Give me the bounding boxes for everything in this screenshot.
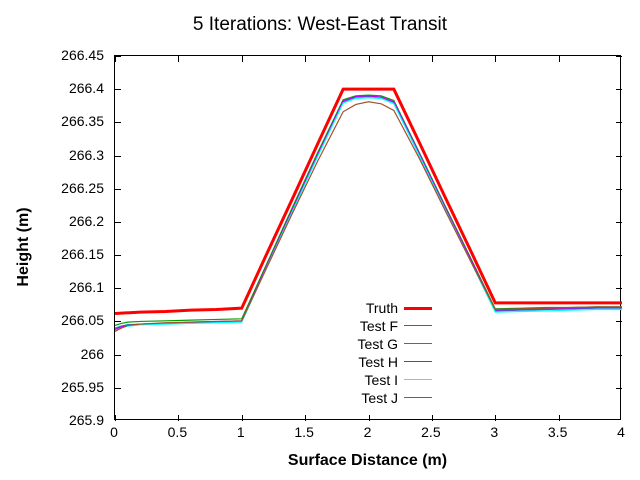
y-tick-label: 266.4	[8, 80, 104, 96]
legend-label: Test F	[306, 317, 398, 335]
legend-item: Test G	[306, 335, 398, 353]
y-tick-label: 266.35	[8, 113, 104, 129]
legend-label: Test H	[306, 353, 398, 371]
x-tick-label: 2.5	[401, 424, 461, 440]
x-tick-label: 3.5	[528, 424, 588, 440]
series-line-test-f	[115, 95, 622, 325]
legend-label: Truth	[306, 299, 398, 317]
x-tick-label: 2	[338, 424, 398, 440]
x-tick-label: 0.5	[147, 424, 207, 440]
y-tick-label: 266.45	[8, 47, 104, 63]
x-axis-label: Surface Distance (m)	[114, 452, 621, 470]
series-line-test-i	[115, 98, 622, 331]
x-tick-label: 1	[211, 424, 271, 440]
chart-legend: TruthTest FTest GTest HTest ITest J	[306, 299, 398, 407]
legend-label: Test J	[306, 389, 398, 407]
y-axis-label: Height (m)	[15, 187, 33, 307]
series-line-truth	[115, 89, 622, 313]
series-line-test-j	[115, 102, 622, 332]
y-tick-label: 266	[8, 346, 104, 362]
y-tick-label: 266.05	[8, 312, 104, 328]
x-tick-label: 4	[591, 424, 640, 440]
legend-color-swatch	[404, 307, 432, 310]
x-tick-label: 0	[84, 424, 144, 440]
legend-item: Test J	[306, 389, 398, 407]
legend-item: Test H	[306, 353, 398, 371]
legend-item: Truth	[306, 299, 398, 317]
y-tick-label: 265.95	[8, 379, 104, 395]
legend-color-swatch	[404, 379, 432, 380]
legend-color-swatch	[404, 325, 432, 326]
chart-figure: 5 Iterations: West-East Transit 265.9265…	[0, 0, 640, 480]
chart-title: 5 Iterations: West-East Transit	[0, 14, 640, 36]
legend-color-swatch	[404, 397, 432, 398]
legend-color-swatch	[404, 343, 432, 344]
legend-color-swatch	[404, 361, 432, 362]
legend-label: Test I	[306, 371, 398, 389]
legend-label: Test G	[306, 335, 398, 353]
y-tick-label: 266.3	[8, 147, 104, 163]
legend-item: Test F	[306, 317, 398, 335]
series-line-test-g	[115, 96, 622, 328]
legend-item: Test I	[306, 371, 398, 389]
series-line-test-h	[115, 96, 622, 330]
x-tick-label: 3	[464, 424, 524, 440]
x-tick-label: 1.5	[274, 424, 334, 440]
